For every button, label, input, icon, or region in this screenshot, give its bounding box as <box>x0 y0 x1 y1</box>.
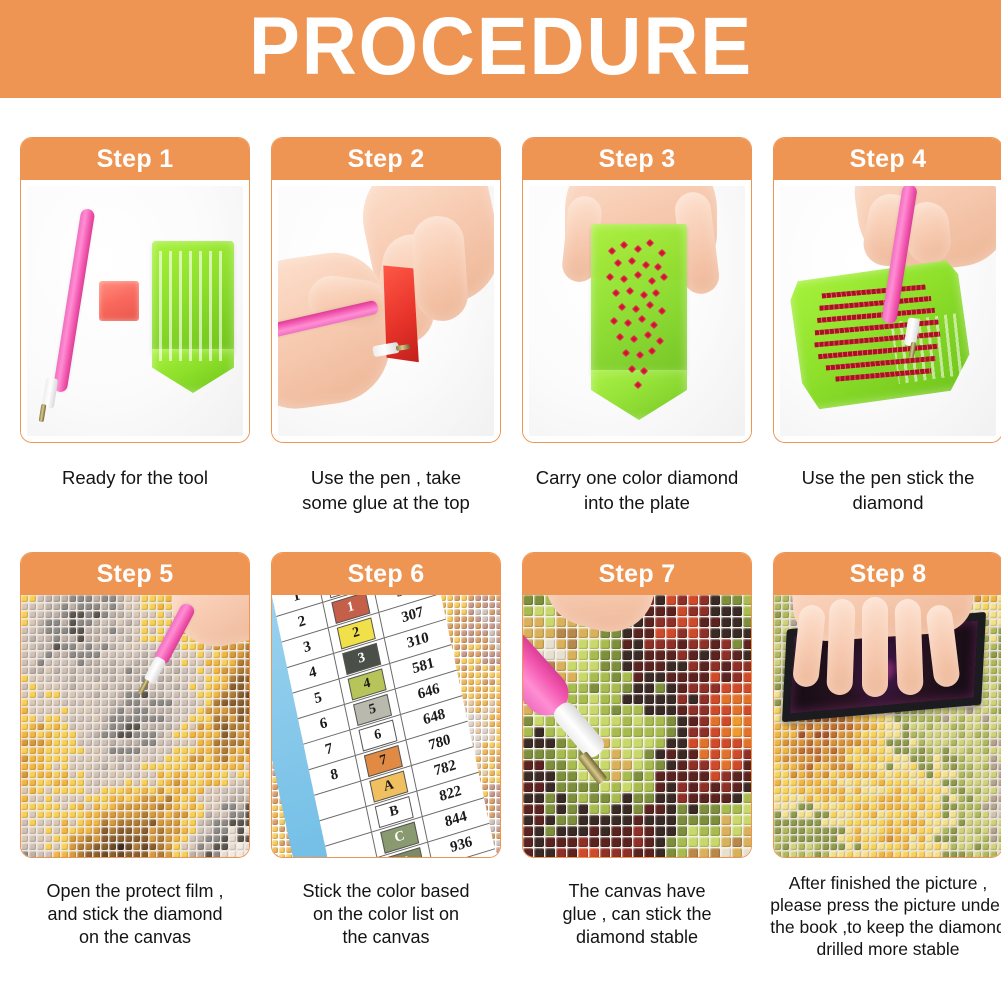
diamond-tray-icon <box>152 241 234 391</box>
step-image-2 <box>272 180 500 442</box>
step-card-2: Step 2 <box>271 137 501 443</box>
glue-on-pen-photo <box>278 186 494 436</box>
steps-grid: Step 1 <box>0 98 1001 960</box>
step-header-6: Step 6 <box>272 553 500 595</box>
sunflower-canvas-photo <box>21 595 249 857</box>
step-cell-3: Step 3 <box>522 137 752 515</box>
pen-picks-diamond-photo <box>780 186 996 436</box>
tool-kit-photo <box>27 186 243 436</box>
step-image-3 <box>523 180 751 442</box>
step-card-3: Step 3 <box>522 137 752 443</box>
steps-row-top: Step 1 <box>0 137 1001 515</box>
step-card-6: Step 6 NoSymbolDMC1121300323074331054581… <box>271 552 501 858</box>
step-cell-2: Step 2 <box>271 137 501 515</box>
step-header-5: Step 5 <box>21 553 249 595</box>
step-image-4 <box>774 180 1001 442</box>
step-card-1: Step 1 <box>20 137 250 443</box>
aligned-diamonds-rows <box>796 263 972 409</box>
step-image-1 <box>21 180 249 442</box>
step-header-4: Step 4 <box>774 138 1001 180</box>
glue-square-icon <box>99 281 139 321</box>
step-caption-5: Open the protect film ,and stick the dia… <box>15 880 255 949</box>
step-image-5 <box>21 595 249 857</box>
step-cell-6: Step 6 NoSymbolDMC1121300323074331054581… <box>271 552 501 960</box>
step-image-6: NoSymbolDMC11213003230743310545816564676… <box>272 595 500 857</box>
step-header-3: Step 3 <box>523 138 751 180</box>
step-caption-3: Carry one color diamondinto the plate <box>517 465 757 515</box>
step-card-7: Step 7 <box>522 552 752 858</box>
page-title: PROCEDURE <box>248 6 752 88</box>
step-header-2: Step 2 <box>272 138 500 180</box>
step-header-7: Step 7 <box>523 553 751 595</box>
color-chart-photo: NoSymbolDMC11213003230743310545816564676… <box>272 595 500 857</box>
step-caption-4: Use the pen stick thediamond <box>768 465 1001 515</box>
step-cell-4: Step 4 <box>773 137 1001 515</box>
step-caption-7: The canvas haveglue , can stick thediamo… <box>517 880 757 949</box>
diamond-mosaic <box>523 595 751 857</box>
step-cell-7: Step 7 The canvas haveglue , c <box>522 552 752 960</box>
procedure-infographic: PROCEDURE Step 1 <box>0 0 1001 1001</box>
red-diamonds-cluster <box>591 224 687 418</box>
step-card-5: Step 5 <box>20 552 250 858</box>
closeup-diamonds-photo <box>523 595 751 857</box>
step-card-4: Step 4 <box>773 137 1001 443</box>
step-caption-1: Ready for the tool <box>15 465 255 490</box>
page-banner: PROCEDURE <box>0 0 1001 98</box>
pressing-book-photo <box>774 595 1001 857</box>
step-image-7 <box>523 595 751 857</box>
step-image-8 <box>774 595 1001 857</box>
step-caption-8: After finished the picture ,please press… <box>763 872 1001 960</box>
step-header-1: Step 1 <box>21 138 249 180</box>
step-cell-5: Step 5 Open the protect film , <box>20 552 250 960</box>
color-chart-sheet: NoSymbolDMC11213003230743310545816564676… <box>272 595 500 857</box>
diamonds-in-tray-photo <box>529 186 745 436</box>
step-cell-1: Step 1 <box>20 137 250 515</box>
steps-row-bottom: Step 5 Open the protect film , <box>0 552 1001 960</box>
step-header-8: Step 8 <box>774 553 1001 595</box>
step-caption-2: Use the pen , takesome glue at the top <box>266 465 506 515</box>
step-card-8: Step 8 <box>773 552 1001 858</box>
step-caption-6: Stick the color basedon the color list o… <box>266 880 506 949</box>
step-cell-8: Step 8 <box>773 552 1001 960</box>
